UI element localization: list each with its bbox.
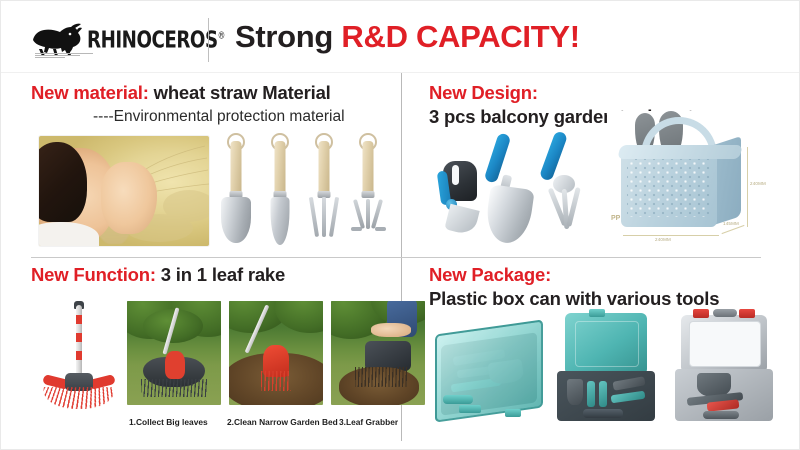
new-material-heading: New material: wheat straw Material xyxy=(31,83,399,104)
dimension-label-width: 240MM xyxy=(655,237,671,242)
rake-tines xyxy=(37,387,120,409)
rake-use-photo-3 xyxy=(331,301,425,405)
storage-basket-photo: 240MM 240MM 145MM PP xyxy=(607,111,791,249)
dimension-line-depth xyxy=(722,225,745,234)
new-material-value: wheat straw Material xyxy=(149,82,331,103)
dimension-label-height: 240MM xyxy=(750,181,766,186)
dimension-line-height xyxy=(747,147,748,227)
logo-underline-decoration xyxy=(35,53,93,58)
dimension-line-width xyxy=(623,235,719,236)
rake-usage-captions: 1.Collect Big leaves 2.Clean Narrow Gard… xyxy=(127,417,427,433)
garden-trowel-tool xyxy=(219,133,253,245)
rake-use-photo-2 xyxy=(229,301,323,405)
section-new-package: New Package: Plastic box can with variou… xyxy=(429,265,789,441)
garden-fork-tool xyxy=(307,133,341,245)
new-function-label: New Function: xyxy=(31,264,156,285)
page-title: Strong R&D CAPACITY! xyxy=(235,19,580,55)
wheat-straw-tools-photo xyxy=(215,127,399,249)
gray-red-case-photo xyxy=(667,309,779,423)
rake-use-caption-3: 3.Leaf Grabber xyxy=(339,417,398,427)
garden-cultivator-tool xyxy=(351,133,385,245)
basket-rim xyxy=(617,145,742,159)
leaf-rake-product-photo xyxy=(35,301,123,409)
section-new-material: New material: wheat straw Material ----E… xyxy=(31,83,399,255)
rhinoceros-icon xyxy=(29,23,85,57)
new-function-heading: New Function: 3 in 1 leaf rake xyxy=(31,265,399,286)
section-new-function: New Function: 3 in 1 leaf rake xyxy=(31,265,399,441)
page-title-prefix: Strong xyxy=(235,19,341,54)
new-function-value: 3 in 1 leaf rake xyxy=(156,264,285,285)
rake-use-caption-1: 1.Collect Big leaves xyxy=(129,417,208,427)
page-header: RHINOCEROS® Strong R&D CAPACITY! xyxy=(1,1,800,73)
page-title-highlight: R&D CAPACITY! xyxy=(341,19,579,54)
infographic-page: RHINOCEROS® Strong R&D CAPACITY! New mat… xyxy=(0,0,800,450)
wheat-straw-photo xyxy=(39,136,209,246)
teal-open-case-photo xyxy=(431,309,543,423)
section-new-design: New Design: 3 pcs balcony garden tools s… xyxy=(429,83,789,255)
package-case-photos xyxy=(429,309,785,429)
header-separator xyxy=(208,18,209,62)
pruning-shears-tool xyxy=(439,159,479,211)
material-mark-label: PP xyxy=(611,215,620,222)
rake-usage-photo-strip xyxy=(127,301,427,413)
registered-mark: ® xyxy=(218,30,225,41)
new-design-label: New Design: xyxy=(429,83,789,104)
horizontal-divider xyxy=(31,257,761,258)
basket-front-panel xyxy=(621,151,717,227)
brand-wordmark: RHINOCEROS® xyxy=(87,27,225,54)
new-material-subtitle: ----Environmental protection material xyxy=(31,108,399,126)
rake-use-caption-2: 2.Clean Narrow Garden Bed xyxy=(227,417,338,427)
new-material-label: New material: xyxy=(31,82,149,103)
new-package-label: New Package: xyxy=(429,265,789,286)
blue-garden-tools-photo xyxy=(429,131,625,249)
garden-transplanter-tool xyxy=(263,133,297,245)
dimension-label-depth: 145MM xyxy=(723,221,739,226)
new-package-value: Plastic box can with various tools xyxy=(429,289,789,310)
teal-closed-case-photo xyxy=(549,309,661,423)
rake-use-photo-1 xyxy=(127,301,221,405)
woman-hand-shape xyxy=(101,162,157,234)
